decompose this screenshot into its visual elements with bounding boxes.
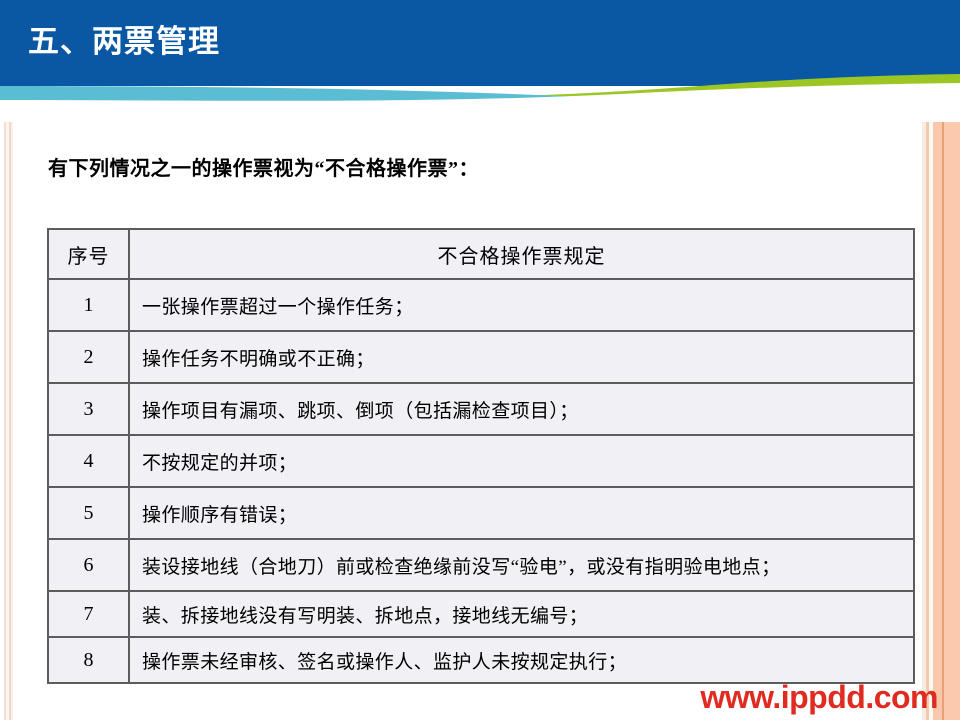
row-number: 8 (48, 637, 129, 683)
row-number: 1 (48, 279, 129, 331)
row-number: 7 (48, 591, 129, 637)
right-stripe-6 (944, 108, 960, 720)
row-description: 装、拆接地线没有写明装、拆地点，接地线无编号； (129, 591, 914, 637)
row-description: 操作顺序有错误； (129, 487, 914, 539)
left-edge-stripe (0, 108, 18, 720)
page-title: 五、两票管理 (28, 22, 220, 62)
row-description: 操作票未经审核、签名或操作人、监护人未按规定执行； (129, 637, 914, 683)
table-row: 2 操作任务不明确或不正确； (48, 331, 914, 383)
row-description: 操作任务不明确或不正确； (129, 331, 914, 383)
right-stripe-4 (933, 108, 942, 720)
intro-text: 有下列情况之一的操作票视为“不合格操作票”： (48, 152, 479, 181)
slide-canvas: 五、两票管理 有下列情况之一的操作票视为“不合格操作票”： 序号 不合格操作票规… (0, 0, 960, 720)
row-number: 2 (48, 331, 129, 383)
table-row: 7 装、拆接地线没有写明装、拆地点，接地线无编号； (48, 591, 914, 637)
table-row: 4 不按规定的并项； (48, 435, 914, 487)
site-watermark: www.ippdd.com (700, 679, 938, 716)
table-row: 8 操作票未经审核、签名或操作人、监护人未按规定执行； (48, 637, 914, 683)
right-edge-stripe (912, 108, 960, 720)
unqualified-ticket-table: 序号 不合格操作票规定 1 一张操作票超过一个操作任务； 2 操作任务不明确或不… (47, 228, 915, 684)
row-number: 6 (48, 539, 129, 591)
row-number: 3 (48, 383, 129, 435)
row-number: 4 (48, 435, 129, 487)
table-row: 6 装设接地线（合地刀）前或检查绝缘前没写“验电”，或没有指明验电地点； (48, 539, 914, 591)
column-header-description: 不合格操作票规定 (129, 229, 914, 279)
row-description: 装设接地线（合地刀）前或检查绝缘前没写“验电”，或没有指明验电地点； (129, 539, 914, 591)
header-wave-decoration (0, 60, 960, 122)
left-stripe-4 (11, 108, 13, 720)
column-header-no: 序号 (48, 229, 129, 279)
row-number: 5 (48, 487, 129, 539)
table-row: 3 操作项目有漏项、跳项、倒项（包括漏检查项目）； (48, 383, 914, 435)
table-row: 1 一张操作票超过一个操作任务； (48, 279, 914, 331)
row-description: 一张操作票超过一个操作任务； (129, 279, 914, 331)
row-description: 不按规定的并项； (129, 435, 914, 487)
table-header-row: 序号 不合格操作票规定 (48, 229, 914, 279)
row-description: 操作项目有漏项、跳项、倒项（包括漏检查项目）； (129, 383, 914, 435)
table-row: 5 操作顺序有错误； (48, 487, 914, 539)
